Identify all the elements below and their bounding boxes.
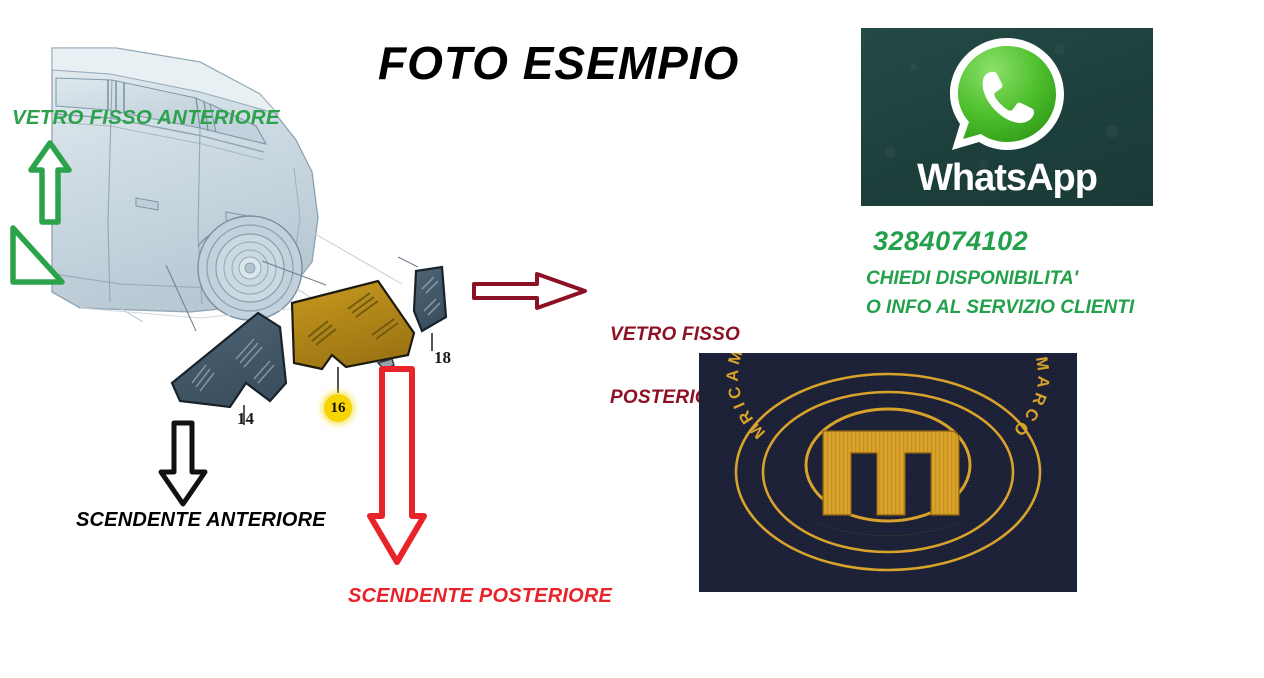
part-number-18: 18 (434, 348, 451, 368)
green-up-arrow-icon (28, 140, 72, 231)
dark-red-right-arrow-icon (471, 270, 589, 317)
part-number-14: 14 (237, 409, 254, 429)
contact-customer-service-line: O INFO AL SERVIZIO CLIENTI (866, 297, 1134, 319)
part-14-front-drop-glass (172, 313, 286, 425)
green-triangle-shape (8, 224, 66, 293)
screenshot-canvas: 14 16 17 18 FOTO ESEMPIO VETRO FISSO ANT… (0, 0, 1264, 678)
label-scendente-posteriore: SCENDENTE POSTERIORE (348, 585, 612, 607)
label-vetro-fisso-anteriore: VETRO FISSO ANTERIORE (12, 107, 280, 130)
label-scendente-anteriore: SCENDENTE ANTERIORE (76, 509, 326, 531)
contact-availability-line: CHIEDI DISPONIBILITA' (866, 268, 1078, 290)
label-vetro-fisso-posteriore-line1: VETRO FISSO (610, 324, 740, 345)
shop-logo: MRICAMBISTORE SERVICE DI RUSSO MARCO ...… (699, 353, 1077, 592)
contact-phone-number[interactable]: 3284074102 (873, 226, 1028, 257)
page-title: FOTO ESEMPIO (378, 36, 739, 90)
red-down-arrow-icon (366, 366, 428, 571)
part-number-badge-16: 16 (324, 394, 352, 422)
shop-logo-ring-text: MRICAMBISTORE SERVICE DI RUSSO MARCO (724, 353, 1053, 442)
part-18-rear-fixed-glass (414, 267, 446, 351)
black-down-arrow-icon (156, 420, 210, 513)
whatsapp-banner: WhatsApp (861, 28, 1153, 206)
svg-text:MRICAMBISTORE SERVICE DI RUSSO: MRICAMBISTORE SERVICE DI RUSSO MARCO (724, 353, 1053, 442)
whatsapp-wordmark: WhatsApp (861, 157, 1153, 200)
shop-logo-monogram (823, 431, 959, 515)
whatsapp-icon (942, 34, 1072, 163)
